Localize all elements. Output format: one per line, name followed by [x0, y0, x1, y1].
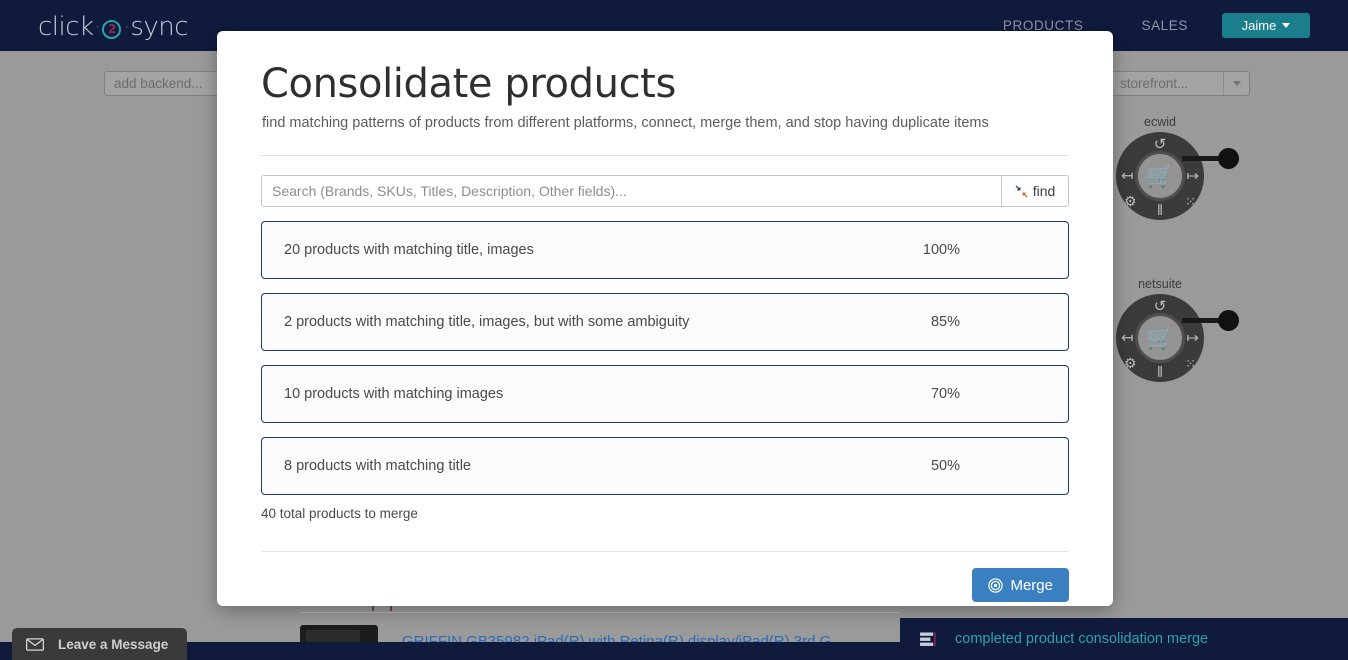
gear-icon[interactable]: ⚙	[1124, 356, 1137, 370]
grid-dots-icon[interactable]: ⁙	[1185, 195, 1196, 208]
result-percent: 100%	[923, 242, 960, 258]
search-bar: find	[261, 175, 1069, 207]
shopping-cart-icon[interactable]: 🛒	[1135, 151, 1185, 201]
compress-arrows-icon	[1015, 185, 1028, 198]
arrow-out-left-icon[interactable]: ↤	[1121, 169, 1134, 184]
node-endpoint-dot[interactable]	[1218, 148, 1239, 169]
add-backend-select[interactable]: add backend...	[104, 71, 231, 96]
leave-a-message-label: Leave a Message	[58, 637, 168, 652]
result-row-4[interactable]: 8 products with matching title 50%	[261, 437, 1069, 495]
app-root: click · 2 · sync PRODUCTS SALES Jaime ad…	[0, 0, 1348, 660]
page-title: Consolidate products	[261, 31, 1069, 107]
storefront-label: storefront...	[1120, 76, 1188, 91]
app-logo[interactable]: click · 2 · sync	[38, 12, 188, 42]
pause-icon[interactable]: ‖	[1157, 203, 1163, 218]
page-subtitle: find matching patterns of products from …	[262, 115, 1069, 131]
refresh-icon[interactable]: ↺	[1154, 299, 1167, 314]
merge-button-label: Merge	[1010, 577, 1053, 594]
node-ecwid-label: ecwid	[1094, 115, 1226, 129]
refresh-icon[interactable]: ↺	[1154, 137, 1167, 152]
logo-dash-right: ·	[123, 17, 129, 37]
arrow-out-right-icon[interactable]: ↦	[1186, 331, 1199, 346]
result-label: 10 products with matching images	[284, 386, 503, 402]
target-icon	[988, 578, 1003, 593]
chevron-down-icon	[1282, 23, 1290, 28]
find-button-label: find	[1033, 183, 1056, 199]
match-results-list: 20 products with matching title, images …	[261, 221, 1069, 521]
logo-text-sync: sync	[130, 12, 188, 42]
result-percent: 50%	[931, 458, 960, 474]
logo-badge: 2	[102, 20, 121, 39]
divider	[261, 551, 1069, 552]
result-row-3[interactable]: 10 products with matching images 70%	[261, 365, 1069, 423]
nav-sales[interactable]: SALES	[1141, 18, 1188, 33]
result-percent: 85%	[931, 314, 960, 330]
result-row-1[interactable]: 20 products with matching title, images …	[261, 221, 1069, 279]
node-dial[interactable]: ↺ ↤ ↦ ⚙ ⁙ ‖ 🛒	[1116, 132, 1204, 220]
server-list-icon	[920, 632, 937, 647]
consolidate-products-modal: Consolidate products find matching patte…	[217, 31, 1113, 606]
node-netsuite[interactable]: netsuite ↺ ↤ ↦ ⚙ ⁙ ‖ 🛒	[1094, 277, 1226, 382]
result-label: 2 products with matching title, images, …	[284, 314, 689, 330]
storefront-select[interactable]: storefront...	[1110, 71, 1250, 96]
modal-footer: Merge	[261, 568, 1069, 602]
chevron-down-icon[interactable]	[1223, 72, 1249, 95]
merge-button[interactable]: Merge	[972, 568, 1069, 602]
node-endpoint-dot[interactable]	[1218, 310, 1239, 331]
find-button[interactable]: find	[1001, 175, 1069, 207]
grid-dots-icon[interactable]: ⁙	[1185, 357, 1196, 370]
result-percent: 70%	[931, 386, 960, 402]
arrow-out-right-icon[interactable]: ↦	[1186, 169, 1199, 184]
result-label: 8 products with matching title	[284, 458, 471, 474]
search-input[interactable]	[261, 175, 1001, 207]
total-products-text: 40 total products to merge	[261, 506, 1069, 521]
notification-toast[interactable]: completed product consolidation merge	[900, 618, 1348, 660]
logo-dash-left: ·	[95, 17, 101, 37]
gear-icon[interactable]: ⚙	[1124, 194, 1137, 208]
node-ecwid[interactable]: ecwid ↺ ↤ ↦ ⚙ ⁙ ‖ 🛒	[1094, 115, 1226, 220]
leave-a-message-widget[interactable]: Leave a Message	[12, 628, 187, 660]
user-menu-label: Jaime	[1242, 18, 1277, 33]
divider	[300, 612, 900, 613]
result-label: 20 products with matching title, images	[284, 242, 534, 258]
arrow-out-left-icon[interactable]: ↤	[1121, 331, 1134, 346]
notification-message: completed product consolidation merge	[955, 631, 1208, 647]
user-menu-button[interactable]: Jaime	[1222, 13, 1310, 38]
logo-text-click: click	[38, 12, 94, 42]
result-row-2[interactable]: 2 products with matching title, images, …	[261, 293, 1069, 351]
pause-icon[interactable]: ‖	[1157, 365, 1163, 380]
envelope-icon	[26, 638, 44, 651]
add-backend-label: add backend...	[114, 76, 203, 91]
shopping-cart-icon[interactable]: 🛒	[1135, 313, 1185, 363]
node-netsuite-label: netsuite	[1094, 277, 1226, 291]
divider	[261, 155, 1069, 156]
node-dial[interactable]: ↺ ↤ ↦ ⚙ ⁙ ‖ 🛒	[1116, 294, 1204, 382]
